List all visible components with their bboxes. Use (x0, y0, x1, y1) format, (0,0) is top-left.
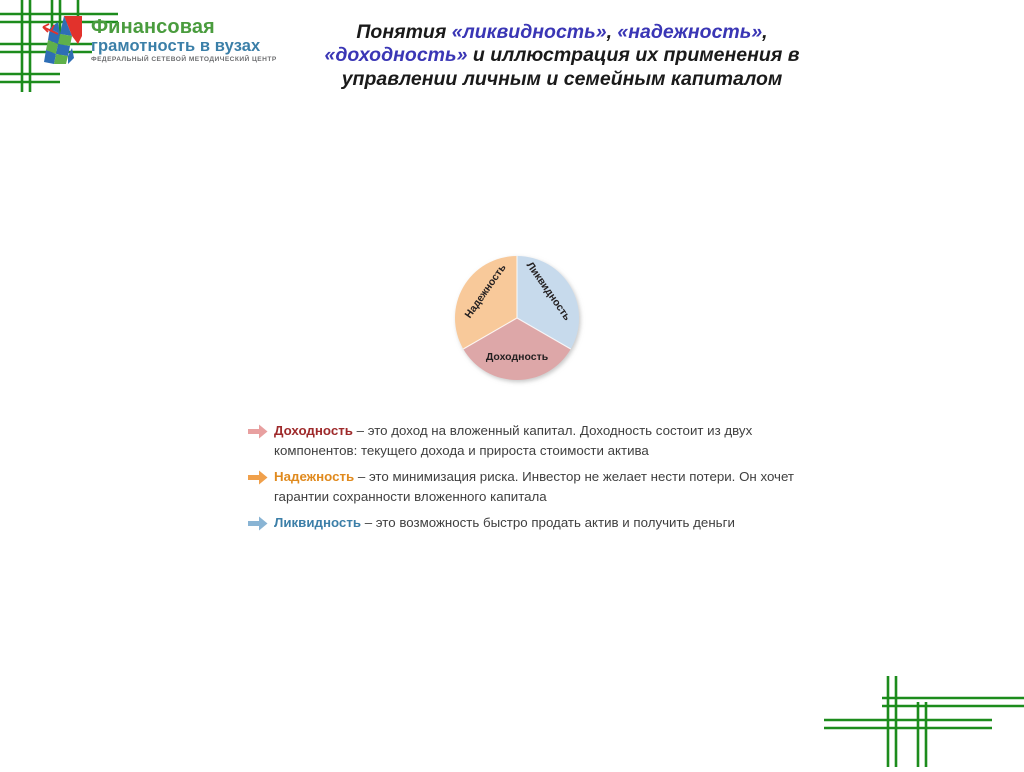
pie-label-dohodnost: Доходность (486, 351, 549, 363)
arrow-right-icon (248, 423, 268, 440)
decor-bottom-right (824, 672, 1024, 767)
arrow-right-icon (248, 515, 268, 532)
green-crosshatch-lines-icon (824, 672, 1024, 767)
term-likvidnost: Ликвидность (274, 515, 361, 530)
brand-logo: Финансовая грамотность в вузах ФЕДЕРАЛЬН… (38, 14, 277, 66)
list-item-text: Ликвидность – это возможность быстро про… (274, 513, 735, 533)
list-item-text: Доходность – это доход на вложенный капи… (274, 421, 808, 460)
title-term-likvidnost: «ликвидность» (452, 21, 607, 43)
list-item-text: Надежность – это минимизация риска. Инве… (274, 467, 808, 506)
logo-line-2: грамотность в вузах (91, 38, 277, 55)
pie-chart-svg: Ликвидность Доходность Надежность (443, 243, 595, 395)
geometric-dog-logo-icon (38, 14, 84, 66)
title-term-nadezhnost: «надежность» (617, 21, 762, 43)
definition-likvidnost: – это возможность быстро продать актив и… (361, 515, 735, 530)
logo-line-3: ФЕДЕРАЛЬНЫЙ СЕТЕВОЙ МЕТОДИЧЕСКИЙ ЦЕНТР (91, 57, 277, 64)
definitions-list: Доходность – это доход на вложенный капи… (248, 421, 808, 540)
pie-chart: Ликвидность Доходность Надежность (443, 243, 595, 395)
title-term-dohodnost: «доходность» (325, 44, 468, 66)
arrow-right-icon (248, 469, 268, 486)
term-nadezhnost: Надежность (274, 469, 354, 484)
term-dohodnost: Доходность (274, 423, 353, 438)
list-item: Доходность – это доход на вложенный капи… (248, 421, 808, 460)
logo-wordmark: Финансовая грамотность в вузах ФЕДЕРАЛЬН… (91, 17, 277, 64)
title-part-3: , (762, 21, 767, 43)
list-item: Ликвидность – это возможность быстро про… (248, 513, 808, 533)
logo-line-1: Финансовая (91, 17, 277, 37)
list-item: Надежность – это минимизация риска. Инве… (248, 467, 808, 506)
title-part-1: Понятия (356, 21, 451, 43)
title-part-2: , (607, 21, 618, 43)
page-title: Понятия «ликвидность», «надежность», «до… (288, 21, 836, 91)
